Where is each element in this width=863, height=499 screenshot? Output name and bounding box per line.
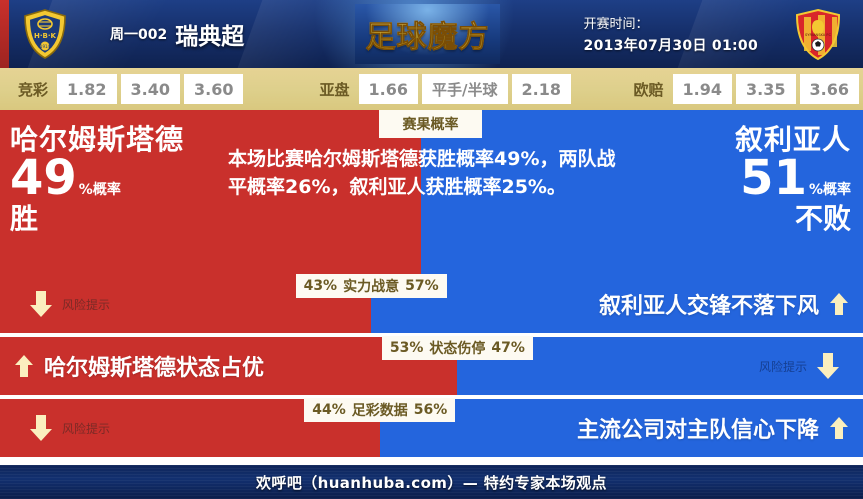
result-probability-panel: 哈尔姆斯塔德 49 %概率 胜 叙利亚人 51 %概率 不败 赛果概率 本场比赛… (0, 110, 863, 275)
away-team-block: 叙利亚人 51 %概率 不败 (735, 126, 851, 233)
comparison-message-text: 叙利亚人交锋不落下风 (599, 288, 819, 320)
arrow-up-icon (829, 416, 849, 440)
risk-warning: 风险提示 (28, 399, 110, 457)
comparison-category-label: 足彩数据 (352, 400, 408, 420)
away-share-percent: 57% (405, 278, 439, 294)
home-share-percent: 53% (390, 340, 424, 356)
arrow-up-icon (829, 292, 849, 316)
comparison-badge: 53% 状态伤停 47% (382, 336, 533, 360)
footer-bar: 欢呼吧（huanhuba.com）— 特约专家本场观点 (0, 465, 863, 499)
odds-group-european: 欧赔 1.94 3.35 3.66 (625, 68, 863, 110)
kickoff-time-group: 开赛时间： 2013年07月30日 01:00 (584, 0, 758, 68)
home-result-word: 胜 (10, 205, 184, 233)
home-percent-suffix: %概率 (79, 183, 121, 197)
risk-warning: 风险提示 (28, 275, 110, 333)
result-probability-tab[interactable]: 赛果概率 (379, 110, 482, 138)
kickoff-label: 开赛时间： (584, 13, 649, 32)
match-title-group: 周一002 瑞典超 (110, 0, 244, 68)
odds-value[interactable]: 1.82 (57, 74, 116, 104)
arrow-down-icon (28, 413, 54, 443)
away-result-word: 不败 (735, 205, 851, 233)
away-team-crest-icon: SYRIANSKA FC (791, 7, 845, 61)
away-share-percent: 56% (414, 402, 448, 418)
home-share-percent: 44% (312, 402, 346, 418)
home-team-block: 哈尔姆斯塔德 49 %概率 胜 (10, 126, 184, 233)
odds-group-label: 亚盘 (311, 79, 359, 100)
comparison-row: 44% 足彩数据 56% 风险提示 主流公司对主队信心下降 (0, 399, 863, 457)
odds-value[interactable]: 2.18 (512, 74, 571, 104)
svg-text:SYRIANSKA FC: SYRIANSKA FC (805, 33, 831, 37)
risk-warning: 风险提示 (759, 337, 841, 395)
risk-warning-label: 风险提示 (62, 296, 110, 313)
arrow-down-icon (815, 351, 841, 381)
comparison-row: 43% 实力战意 57% 风险提示 叙利亚人交锋不落下风 (0, 275, 863, 333)
brand-logo: 足球魔方 (355, 4, 500, 64)
league-name: 瑞典超 (175, 17, 244, 51)
match-preview-infographic: H·B·K 1914 周一002 瑞典超 足球魔方 开赛时间： 2013年07月… (0, 0, 863, 499)
odds-value[interactable]: 3.60 (184, 74, 243, 104)
match-round: 周一002 (110, 24, 167, 44)
odds-value[interactable]: 3.66 (800, 74, 859, 104)
odds-group-label: 竞彩 (9, 79, 57, 100)
odds-group-asian: 亚盘 1.66 平手/半球 2.18 (311, 68, 575, 110)
comparison-bars: 43% 实力战意 57% 风险提示 叙利亚人交锋不落下风 (0, 275, 863, 457)
arrow-down-icon (28, 289, 54, 319)
comparison-category-label: 状态伤停 (429, 338, 485, 358)
away-share-percent: 47% (491, 340, 525, 356)
home-win-percent: 49 (10, 156, 77, 202)
footer-credit: 欢呼吧（huanhuba.com）— 特约专家本场观点 (256, 472, 607, 493)
home-team-crest-icon: H·B·K 1914 (18, 7, 72, 61)
comparison-message-text: 哈尔姆斯塔德状态占优 (44, 350, 264, 382)
comparison-message: 主流公司对主队信心下降 (577, 399, 849, 457)
comparison-category-label: 实力战意 (343, 276, 399, 296)
odds-value[interactable]: 3.40 (121, 74, 180, 104)
odds-group-jingcai: 竞彩 1.82 3.40 3.60 (9, 68, 247, 110)
odds-value[interactable]: 1.94 (673, 74, 732, 104)
comparison-row: 53% 状态伤停 47% 哈尔姆斯塔德状态占优 风险提示 (0, 337, 863, 395)
brand-logo-text: 足球魔方 (366, 12, 490, 56)
header-accent-stripe (0, 0, 9, 68)
header-bar: H·B·K 1914 周一002 瑞典超 足球魔方 开赛时间： 2013年07月… (0, 0, 863, 68)
arrow-up-icon (14, 354, 34, 378)
comparison-badge: 44% 足彩数据 56% (304, 398, 455, 422)
kickoff-value: 2013年07月30日 01:00 (584, 35, 758, 55)
risk-warning-label: 风险提示 (62, 420, 110, 437)
odds-value[interactable]: 1.66 (359, 74, 418, 104)
odds-bar: 竞彩 1.82 3.40 3.60 亚盘 1.66 平手/半球 2.18 欧赔 … (0, 68, 863, 110)
comparison-message: 叙利亚人交锋不落下风 (599, 275, 849, 333)
away-win-percent: 51 (740, 156, 807, 202)
odds-group-label: 欧赔 (625, 79, 673, 100)
risk-warning-label: 风险提示 (759, 358, 807, 375)
home-share-percent: 43% (304, 278, 338, 294)
probability-summary-text: 本场比赛哈尔姆斯塔德获胜概率49%，两队战平概率26%，叙利亚人获胜概率25%。 (228, 146, 628, 201)
svg-text:H·B·K: H·B·K (34, 32, 57, 40)
comparison-message: 哈尔姆斯塔德状态占优 (14, 337, 264, 395)
odds-value[interactable]: 3.35 (736, 74, 795, 104)
svg-text:1914: 1914 (40, 44, 51, 49)
away-percent-suffix: %概率 (809, 183, 851, 197)
comparison-message-text: 主流公司对主队信心下降 (577, 412, 819, 444)
odds-handicap-value[interactable]: 平手/半球 (422, 74, 507, 104)
comparison-badge: 43% 实力战意 57% (296, 274, 447, 298)
